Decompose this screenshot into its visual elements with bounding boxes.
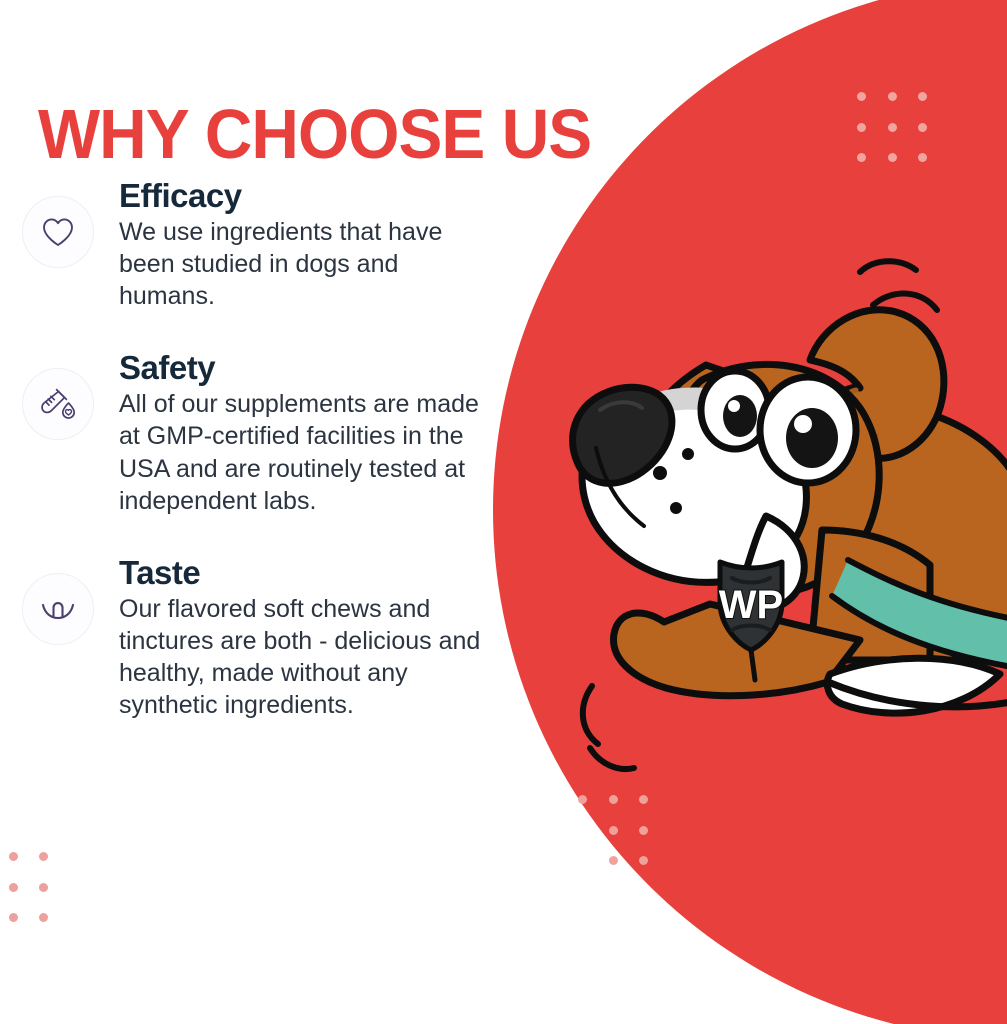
- feature-item-efficacy: Efficacy We use ingredients that have be…: [0, 178, 500, 312]
- decorative-dot: [639, 826, 648, 835]
- feature-description: All of our supplements are made at GMP-c…: [119, 388, 490, 517]
- decorative-dot: [609, 826, 618, 835]
- decorative-dot: [39, 913, 48, 922]
- dot-grid-lower-middle: [578, 795, 670, 887]
- decorative-dot: [918, 153, 927, 162]
- feature-list: Efficacy We use ingredients that have be…: [0, 178, 500, 760]
- dot-grid-top-right: [857, 92, 949, 184]
- feature-title: Efficacy: [119, 178, 490, 214]
- decorative-dot: [918, 92, 927, 101]
- badge-label: WP: [719, 583, 783, 627]
- decorative-dot: [639, 795, 648, 804]
- feature-item-safety: Safety All of our supplements are made a…: [0, 350, 500, 517]
- page-title: WHY CHOOSE US: [38, 99, 591, 169]
- decorative-dot: [9, 913, 18, 922]
- decorative-dot: [578, 795, 587, 804]
- decorative-dot: [857, 92, 866, 101]
- why-choose-us-graphic: WHY CHOOSE US Efficacy We use ingredient…: [0, 0, 1007, 1024]
- decorative-dot: [888, 153, 897, 162]
- dot-grid-bottom-left: [0, 852, 70, 944]
- feature-title: Taste: [119, 555, 490, 591]
- decorative-dot: [9, 883, 18, 892]
- feature-item-taste: Taste Our flavored soft chews and tinctu…: [0, 555, 500, 722]
- decorative-dot: [39, 883, 48, 892]
- decorative-dot: [639, 856, 648, 865]
- decorative-dot: [857, 123, 866, 132]
- decorative-dot: [609, 856, 618, 865]
- decorative-dot: [857, 153, 866, 162]
- decorative-dot: [39, 852, 48, 861]
- decorative-dot: [918, 123, 927, 132]
- decorative-dot: [888, 123, 897, 132]
- feature-description: Our flavored soft chews and tinctures ar…: [119, 593, 490, 722]
- feature-description: We use ingredients that have been studie…: [119, 216, 490, 313]
- jumping-dog-mascot: WP: [560, 230, 1007, 750]
- decorative-dot: [888, 92, 897, 101]
- test-tube-icon: [22, 368, 94, 440]
- decorative-dot: [578, 826, 587, 835]
- decorative-dot: [9, 852, 18, 861]
- tongue-icon: [22, 573, 94, 645]
- decorative-dot: [609, 795, 618, 804]
- decorative-dot: [578, 856, 587, 865]
- heart-icon: [22, 196, 94, 268]
- feature-title: Safety: [119, 350, 490, 386]
